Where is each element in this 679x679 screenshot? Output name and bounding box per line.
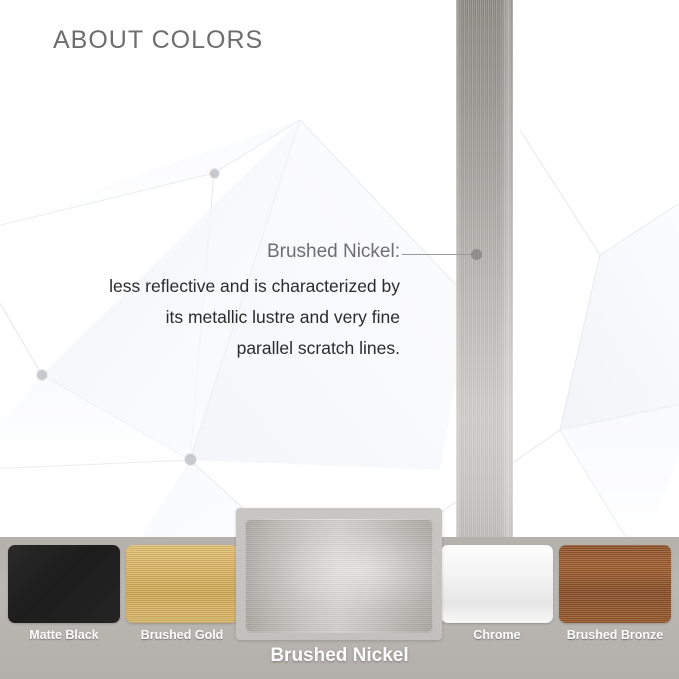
- swatch-label-brushed-gold: Brushed Gold: [126, 628, 238, 642]
- page-title: ABOUT COLORS: [53, 26, 263, 55]
- swatch-chip-brushed-gold[interactable]: [126, 545, 238, 623]
- brushed-nickel-sample-strip: [456, 0, 513, 538]
- swatch-chip-chrome[interactable]: [441, 545, 553, 623]
- swatch-label-matte-black: Matte Black: [8, 628, 120, 642]
- swatch-chrome[interactable]: Chrome: [441, 545, 553, 642]
- node-dot: [209, 168, 220, 179]
- node-dot: [36, 369, 48, 381]
- swatch-matte-black[interactable]: Matte Black: [8, 545, 120, 642]
- swatch-chip-brushed-nickel[interactable]: [245, 519, 433, 633]
- callout-leader-dot: [471, 249, 482, 260]
- callout-body-line-3: parallel scratch lines.: [36, 333, 400, 364]
- swatch-label-brushed-nickel: Brushed Nickel: [0, 645, 679, 667]
- callout-text-block: Brushed Nickel: less reflective and is c…: [36, 240, 400, 364]
- callout-leader-line: [402, 254, 476, 255]
- swatch-chip-matte-black[interactable]: [8, 545, 120, 623]
- node-dot: [184, 453, 197, 466]
- swatch-label-brushed-bronze: Brushed Bronze: [559, 628, 671, 642]
- swatch-brushed-bronze[interactable]: Brushed Bronze: [559, 545, 671, 642]
- swatch-chip-brushed-bronze[interactable]: [559, 545, 671, 623]
- swatch-panel: Matte Black Brushed Gold Chrome Brushed …: [0, 537, 679, 679]
- callout-body-line-1: less reflective and is characterized by: [36, 271, 400, 302]
- swatch-label-chrome: Chrome: [441, 628, 553, 642]
- swatch-brushed-gold[interactable]: Brushed Gold: [126, 545, 238, 642]
- swatch-brushed-nickel-featured[interactable]: [236, 508, 442, 640]
- callout-heading: Brushed Nickel:: [36, 240, 400, 264]
- callout-body: less reflective and is characterized by …: [36, 271, 400, 364]
- about-colors-infographic: ABOUT COLORS Brushed Nickel: less reflec…: [0, 0, 679, 679]
- callout-body-line-2: its metallic lustre and very fine: [36, 302, 400, 333]
